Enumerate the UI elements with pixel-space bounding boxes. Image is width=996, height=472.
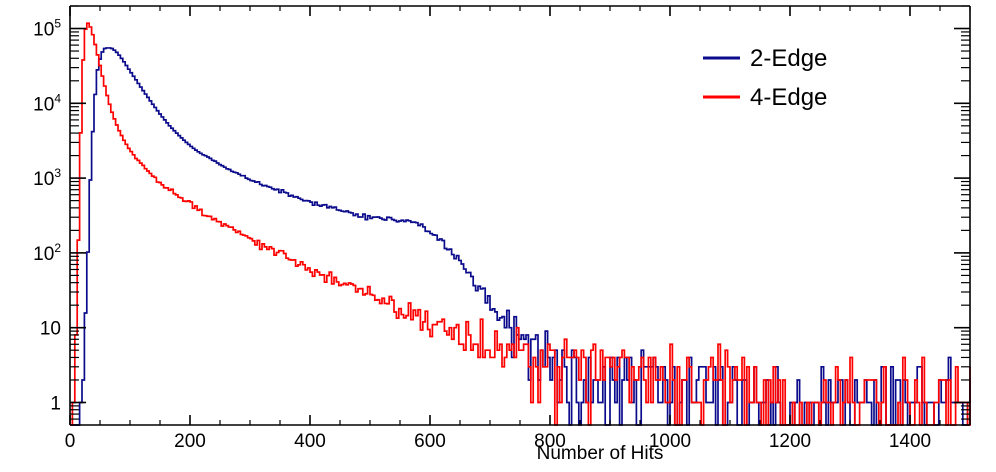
- x-tick-label: 200: [174, 431, 206, 452]
- chart-root: 0200400600800100012001400 11010210310410…: [0, 0, 996, 472]
- plot-background: [0, 0, 996, 472]
- legend-label-4-edge: 4-Edge: [750, 84, 827, 111]
- x-tick-label: 600: [414, 431, 446, 452]
- histogram-plot: 0200400600800100012001400 11010210310410…: [0, 0, 996, 472]
- x-tick-label: 0: [65, 431, 76, 452]
- y-tick-label: 10: [40, 319, 61, 340]
- x-axis-title: Number of Hits: [537, 443, 664, 464]
- legend-label-2-edge: 2-Edge: [750, 45, 827, 72]
- y-tick-label: 1: [50, 393, 61, 414]
- x-tick-label: 1400: [889, 431, 931, 452]
- x-tick-label: 1200: [769, 431, 811, 452]
- x-tick-label: 400: [294, 431, 326, 452]
